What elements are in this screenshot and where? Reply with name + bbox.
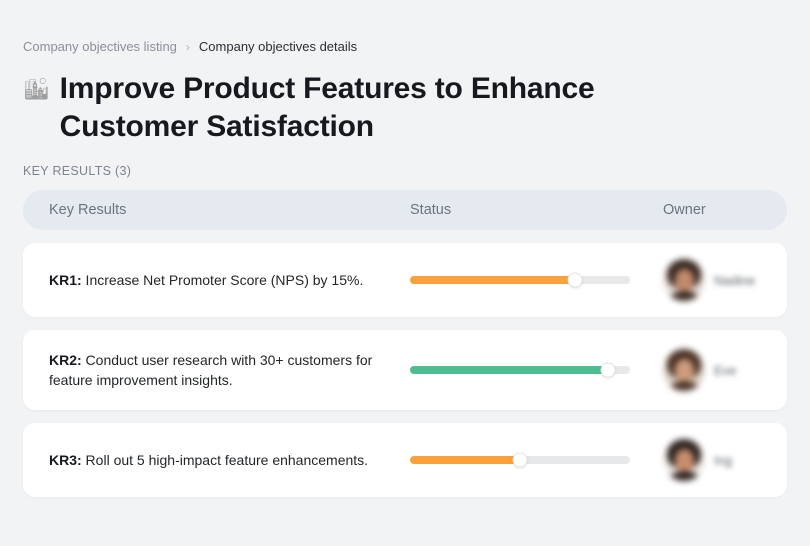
table-header-row: Key Results Status Owner [23,190,787,230]
progress-bar-thumb[interactable] [568,273,583,288]
progress-bar-thumb[interactable] [513,453,528,468]
owner-name: Nadine [714,273,755,288]
owner-cell: Eve [663,349,787,391]
table-row[interactable]: KR2: Conduct user research with 30+ cust… [23,330,787,410]
owner-name: Ing [714,453,732,468]
key-result-code: KR3: [49,452,82,468]
objective-details-page: Company objectives listing › Company obj… [0,0,810,546]
column-header-owner: Owner [663,202,787,218]
table-row[interactable]: KR1: Increase Net Promoter Score (NPS) b… [23,243,787,317]
table-body: KR1: Increase Net Promoter Score (NPS) b… [23,243,787,497]
cityscape-icon: 🏙 [23,70,50,110]
progress-bar-fill [410,276,575,284]
breadcrumb: Company objectives listing › Company obj… [23,0,787,56]
progress-bar-fill [410,456,520,464]
owner-name: Eve [714,363,736,378]
key-result-cell: KR1: Increase Net Promoter Score (NPS) b… [23,270,410,290]
page-title: Improve Product Features to Enhance Cust… [60,70,687,146]
progress-bar[interactable] [410,366,630,374]
key-result-code: KR1: [49,272,82,288]
table-row[interactable]: KR3: Roll out 5 high-impact feature enha… [23,423,787,497]
progress-bar-fill [410,366,608,374]
column-header-status: Status [410,202,663,218]
key-result-text: Roll out 5 high-impact feature enhanceme… [82,452,368,468]
status-cell [410,276,663,284]
progress-bar-thumb[interactable] [601,363,616,378]
key-result-cell: KR3: Roll out 5 high-impact feature enha… [23,450,410,470]
avatar-face [675,449,694,472]
avatar[interactable] [663,439,705,481]
status-cell [410,366,663,374]
chevron-right-icon: › [186,38,190,56]
avatar-face [675,359,694,382]
breadcrumb-link-listing[interactable]: Company objectives listing [23,38,177,56]
key-results-table: Key Results Status Owner KR1: Increase N… [23,190,787,497]
breadcrumb-current-details: Company objectives details [199,38,357,56]
avatar[interactable] [663,259,705,301]
progress-bar[interactable] [410,456,630,464]
progress-bar[interactable] [410,276,630,284]
key-result-cell: KR2: Conduct user research with 30+ cust… [23,350,410,390]
key-results-count-label: KEY RESULTS (3) [23,164,787,178]
avatar-face [675,269,694,292]
key-result-text: Conduct user research with 30+ customers… [49,352,372,388]
owner-cell: Nadine [663,259,787,301]
status-cell [410,456,663,464]
key-result-code: KR2: [49,352,82,368]
page-title-row: 🏙 Improve Product Features to Enhance Cu… [23,70,787,146]
key-result-text: Increase Net Promoter Score (NPS) by 15%… [82,272,364,288]
avatar[interactable] [663,349,705,391]
owner-cell: Ing [663,439,787,481]
column-header-key-results: Key Results [23,202,410,218]
